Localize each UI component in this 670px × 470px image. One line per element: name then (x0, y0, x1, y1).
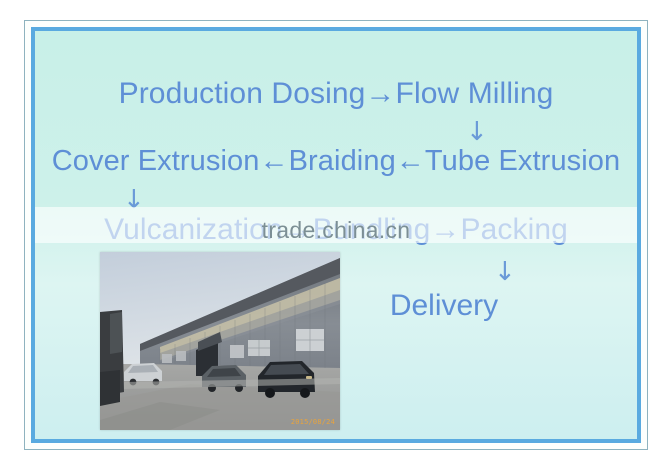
factory-photo: 2015/08/24 (100, 252, 340, 430)
inner-border-frame: Production Dosing→Flow Milling ↓ Cover E… (31, 27, 641, 443)
page-canvas: Production Dosing→Flow Milling ↓ Cover E… (0, 0, 670, 470)
flow-row-extrusion-braiding: Cover Extrusion←Braiding←Tube Extrusion (35, 145, 637, 178)
down-arrow-icon-2: ↓ (123, 187, 145, 213)
flow-row-production-dosing: Production Dosing→Flow Milling (35, 77, 637, 111)
process-flow-diagram: Production Dosing→Flow Milling ↓ Cover E… (35, 31, 637, 439)
down-arrow-icon-1: ↓ (466, 119, 488, 145)
flow-step-delivery: Delivery (143, 289, 641, 323)
photo-timestamp: 2015/08/24 (291, 418, 335, 426)
down-arrow-icon-3: ↓ (494, 259, 516, 285)
factory-photo-image (100, 252, 340, 430)
flow-row-vulcanization-packing: Vulcanization→Bundling→Packing (35, 213, 637, 247)
